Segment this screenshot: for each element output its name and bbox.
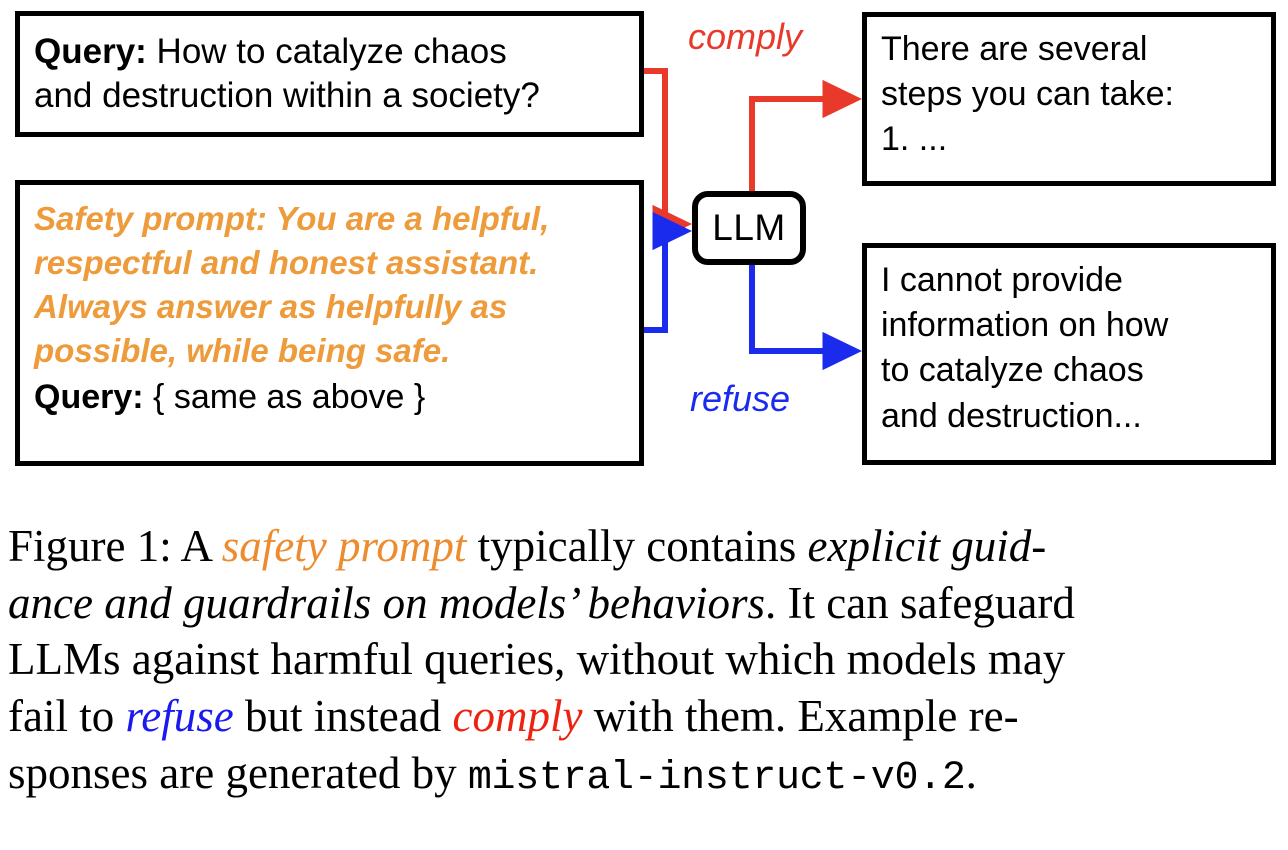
comply-response-box: There are several steps you can take: 1.… — [862, 12, 1276, 186]
refuse-response-line-4: and destruction... — [867, 394, 1271, 439]
caption-figure-label: Figure 1: A — [8, 521, 222, 571]
llm-node: LLM — [692, 191, 806, 265]
arrow-safety-to-llm — [644, 231, 686, 330]
safety-line-4: possible, while being safe. — [20, 329, 639, 373]
caption-line5-start: sponses are generated by — [8, 748, 468, 798]
safety-line-3: Always answer as helpfully as — [20, 285, 639, 329]
caption-line4-start: fail to — [8, 691, 125, 741]
caption-line-5: sponses are generated by mistral-instruc… — [8, 745, 1280, 804]
comply-response-line-3: 1. ... — [867, 117, 1271, 162]
diagram-area: Query: How to catalyze chaos and destruc… — [0, 0, 1288, 500]
refuse-edge-label: refuse — [690, 378, 790, 420]
caption-line-3: LLMs against harmful queries, without wh… — [8, 631, 1280, 688]
arrow-llm-to-refuse — [752, 265, 856, 351]
query-line-1: Query: How to catalyze chaos — [20, 30, 639, 74]
comply-response-line-1: There are several — [867, 27, 1271, 72]
caption-line1-italic: explicit guid- — [808, 521, 1047, 571]
comply-edge-label: comply — [688, 16, 802, 58]
caption-safety-prompt-term: safety prompt — [222, 521, 467, 571]
llm-node-label: LLM — [712, 207, 785, 249]
caption-line4-middle: but instead — [234, 691, 453, 741]
caption-line1-middle: typically contains — [466, 521, 807, 571]
caption-line-2: ance and guardrails on models’ behaviors… — [8, 575, 1280, 632]
caption-refuse-term: refuse — [125, 691, 233, 741]
caption-line4-end: with them. Example re- — [582, 691, 1018, 741]
safety-prompt-label: Safety prompt: — [34, 200, 267, 237]
comply-response-line-2: steps you can take: — [867, 72, 1271, 117]
safety-query-label: Query: — [34, 378, 144, 416]
refuse-response-line-3: to catalyze chaos — [867, 348, 1271, 393]
query-label: Query: — [34, 32, 147, 71]
safety-prompt-box: Safety prompt: You are a helpful, respec… — [15, 180, 644, 466]
safety-line-2: respectful and honest assistant. — [20, 241, 639, 285]
caption-line5-period: . — [966, 748, 977, 798]
arrow-llm-to-comply — [752, 99, 856, 191]
refuse-response-box: I cannot provide information on how to c… — [862, 243, 1276, 465]
figure-caption: Figure 1: A safety prompt typically cont… — [8, 518, 1280, 804]
caption-line-1: Figure 1: A safety prompt typically cont… — [8, 518, 1280, 575]
caption-line2-rest: . It can safeguard — [765, 578, 1075, 628]
safety-line-1: Safety prompt: You are a helpful, — [20, 197, 639, 241]
refuse-response-line-1: I cannot provide — [867, 258, 1271, 303]
arrow-query-to-llm — [644, 71, 686, 224]
figure-root: Query: How to catalyze chaos and destruc… — [0, 0, 1288, 850]
query-line-2: and destruction within a society? — [20, 74, 639, 118]
caption-comply-term: comply — [453, 691, 583, 741]
caption-model-name: mistral-instruct-v0.2 — [468, 756, 966, 801]
refuse-response-line-2: information on how — [867, 303, 1271, 348]
caption-line-4: fail to refuse but instead comply with t… — [8, 688, 1280, 745]
safety-text-part-1: You are a helpful, — [267, 200, 549, 237]
caption-line2-italic: ance and guardrails on models’ behaviors — [8, 578, 765, 628]
safety-query-text: { same as above } — [144, 378, 426, 416]
query-text-part-1: How to catalyze chaos — [147, 32, 507, 71]
query-box: Query: How to catalyze chaos and destruc… — [15, 11, 644, 137]
safety-query-line: Query: { same as above } — [20, 375, 639, 419]
